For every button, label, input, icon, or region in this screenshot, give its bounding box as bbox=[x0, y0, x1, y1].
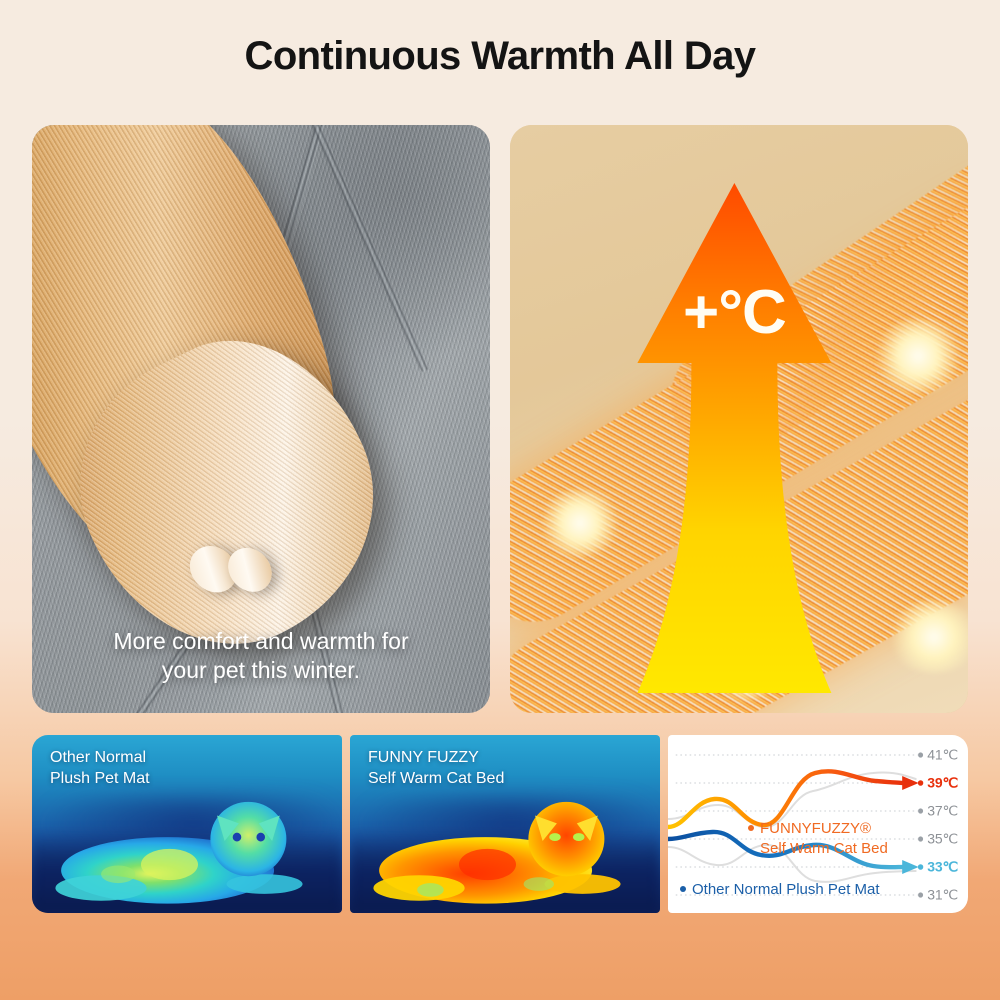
heating-fiber-photo: +°C bbox=[510, 125, 968, 713]
chart-tick-31: 31℃ bbox=[927, 887, 958, 904]
thermal-comparison-row: Other Normal Plush Pet Mat bbox=[32, 735, 968, 913]
thermal-cat-cold bbox=[44, 794, 329, 911]
thermal-image-funnyfuzzy-bed: FUNNY FUZZY Self Warm Cat Bed bbox=[350, 735, 660, 913]
thermal-label-line-2: Plush Pet Mat bbox=[50, 768, 150, 789]
fiber-glow-spot bbox=[537, 490, 623, 556]
chart-tick-35: 35℃ bbox=[927, 831, 958, 848]
thermal-label-other-mat: Other Normal Plush Pet Mat bbox=[50, 747, 150, 789]
legend-text-cool-1: Other Normal Plush Pet Mat bbox=[692, 881, 880, 898]
fiber-glow-spot bbox=[872, 319, 964, 393]
page-title: Continuous Warmth All Day bbox=[245, 34, 756, 79]
chart-legend-funnyfuzzy-line-2: Self Warm Cat Bed bbox=[748, 839, 888, 859]
legend-bullet-cool bbox=[680, 886, 686, 892]
thermal-label-line-1: FUNNY FUZZY bbox=[368, 747, 504, 768]
chart-tick-37: 37℃ bbox=[927, 803, 958, 820]
legend-text-warm-1: FUNNYFUZZY® bbox=[760, 820, 871, 837]
chart-tick-41: 41℃ bbox=[927, 747, 958, 764]
thermal-cat-warm bbox=[362, 794, 647, 911]
chart-legend-funnyfuzzy: FUNNYFUZZY® Self Warm Cat Bed bbox=[748, 819, 888, 858]
temperature-comparison-chart: 41℃ 39℃ 37℃ 35℃ 33℃ 31℃ FUNNYFUZZY® Self… bbox=[668, 735, 968, 913]
photo-caption-line-1: More comfort and warmth for bbox=[62, 627, 460, 656]
chart-tick-39: 39℃ bbox=[927, 775, 958, 792]
thermal-label-line-1: Other Normal bbox=[50, 747, 150, 768]
hero-panel-row: More comfort and warmth for your pet thi… bbox=[32, 125, 968, 713]
photo-caption-line-2: your pet this winter. bbox=[62, 656, 460, 685]
chart-legend-other-mat: Other Normal Plush Pet Mat bbox=[680, 880, 880, 900]
paw-toe bbox=[219, 540, 280, 601]
photo-caption: More comfort and warmth for your pet thi… bbox=[32, 627, 490, 685]
chart-gridline-endpoints bbox=[918, 752, 923, 897]
chart-tick-33: 33℃ bbox=[927, 859, 958, 876]
thermal-label-line-2: Self Warm Cat Bed bbox=[368, 768, 504, 789]
temperature-up-arrow: +°C bbox=[619, 173, 849, 713]
dog-paw-on-plush-photo: More comfort and warmth for your pet thi… bbox=[32, 125, 490, 713]
thermal-label-funnyfuzzy-bed: FUNNY FUZZY Self Warm Cat Bed bbox=[368, 747, 504, 789]
chart-legend-funnyfuzzy-line-1: FUNNYFUZZY® bbox=[748, 819, 888, 839]
up-arrow-icon bbox=[619, 173, 849, 713]
page-header: Continuous Warmth All Day bbox=[0, 0, 1000, 112]
thermal-image-other-mat: Other Normal Plush Pet Mat bbox=[32, 735, 342, 913]
legend-bullet-warm bbox=[748, 825, 754, 831]
